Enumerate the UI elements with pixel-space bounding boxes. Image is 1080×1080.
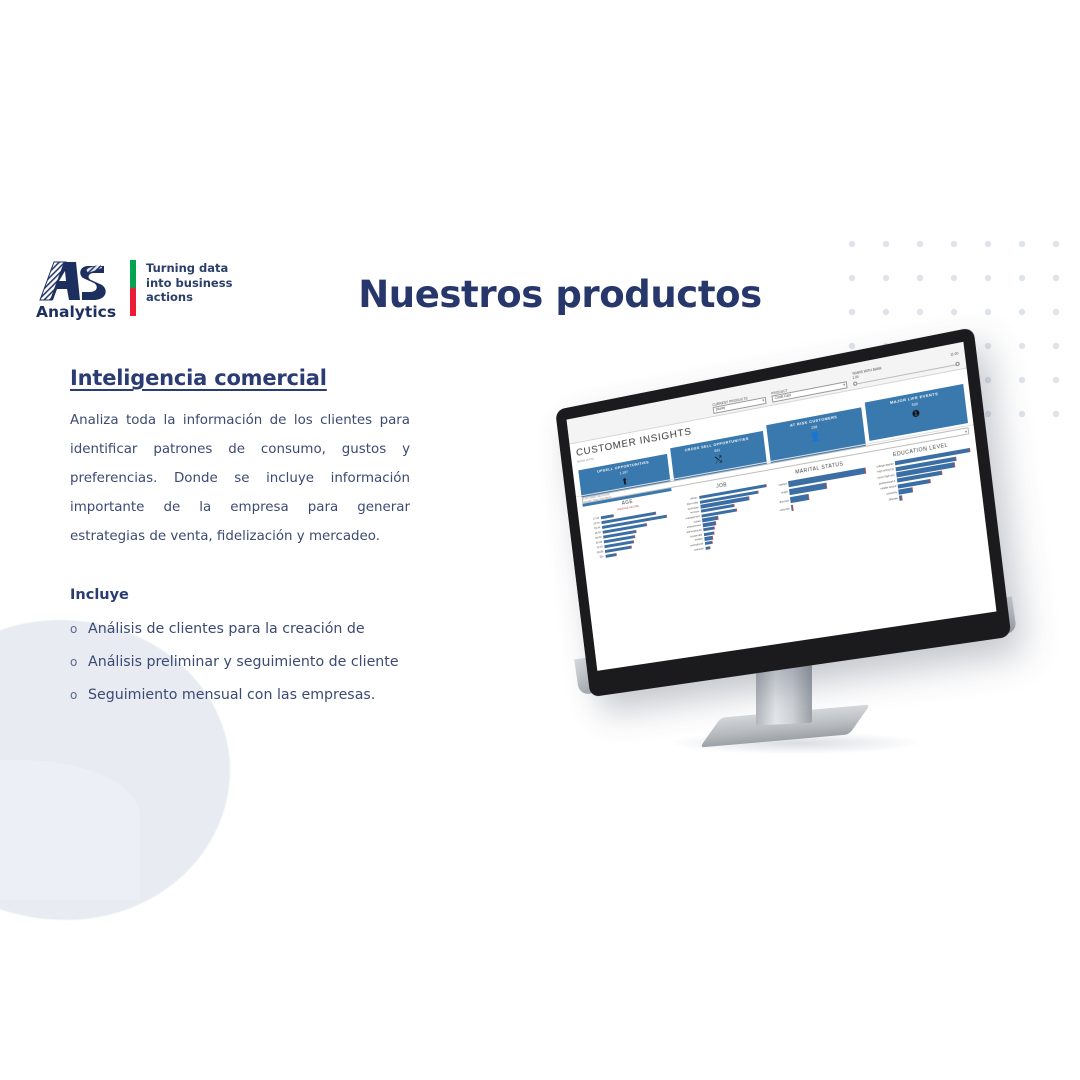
logo-tagline: Turning data into business actions <box>146 261 232 305</box>
list-item-label: Seguimiento mensual con las empresas. <box>88 681 410 710</box>
list-item: o Análisis preliminar y seguimiento de c… <box>70 648 410 677</box>
chart-age: AGE AVERAGE INCOME 17-2425-3435-4445-545… <box>583 492 692 666</box>
as-monogram-icon: Analytics <box>36 256 118 322</box>
includes-heading: Incluye <box>70 587 410 603</box>
filter-value: (None) <box>715 405 725 414</box>
chart-bar-fill <box>899 495 902 500</box>
list-item-label: Análisis preliminar y seguimiento de cli… <box>88 648 410 677</box>
chart-bar-label: married <box>773 482 787 487</box>
logo-mark: Analytics <box>36 256 118 322</box>
tagline-line-2: into business <box>146 276 232 291</box>
slide-canvas: Analytics Turning data into business act… <box>0 0 1080 1080</box>
chart-bar-label: 90+ <box>589 555 604 560</box>
monitor-mockup: CURRENT PRODUCTS (None) ▾ PRODUCT Credit… <box>560 360 1030 810</box>
chart-job: JOB admin.blue-collartechnicianservicesm… <box>676 475 788 653</box>
badge-icon: ❶ <box>911 408 921 421</box>
chart-bar-label: single <box>774 491 788 496</box>
list-item: o Análisis de clientes para la creación … <box>70 615 410 644</box>
chevron-down-icon: ▾ <box>843 381 847 389</box>
section-heading: Inteligencia comercial <box>70 366 410 390</box>
tagline-line-3: actions <box>146 290 232 305</box>
list-item-label: Análisis de clientes para la creación de <box>88 615 410 644</box>
chart-education-level: EDUCATION LEVEL college degreehigh schoo… <box>871 438 991 623</box>
kpi-value: 1,197 <box>619 470 628 475</box>
tagline-line-1: Turning data <box>146 261 232 276</box>
body-paragraph: Analiza toda la información de los clien… <box>70 406 410 551</box>
kpi-value: 298 <box>811 425 817 430</box>
page-title: Nuestros productos <box>300 273 820 316</box>
filter-value: Credit Card <box>774 392 791 402</box>
bullet-marker-icon: o <box>70 648 88 677</box>
slider-handle-min[interactable] <box>853 381 858 386</box>
chart-bar-label: divorced <box>775 499 789 504</box>
person-icon: 👤 <box>809 430 821 443</box>
chart-bar-fill <box>705 546 710 550</box>
kpi-value: 631 <box>714 448 720 453</box>
content-column: Inteligencia comercial Analiza toda la i… <box>70 366 410 714</box>
dashboard: CURRENT PRODUCTS (None) ▾ PRODUCT Credit… <box>566 342 996 671</box>
monitor-body: CURRENT PRODUCTS (None) ▾ PRODUCT Credit… <box>555 327 1011 697</box>
bullet-marker-icon: o <box>70 681 88 710</box>
logo-sub-text: Analytics <box>36 303 116 321</box>
logo-divider-bar <box>130 260 136 316</box>
chevron-down-icon: ▾ <box>762 397 766 404</box>
list-item: o Seguimiento mensual con las empresas. <box>70 681 410 710</box>
kpi-value: 530 <box>911 402 918 407</box>
chart-marital-status: MARITAL STATUS marriedsingledivorcedunkn… <box>772 457 888 638</box>
chart-bar-fill <box>605 553 616 558</box>
shuffle-icon: ⤭ <box>714 454 722 466</box>
chart-bar-label: unknown <box>776 507 790 512</box>
bullet-marker-icon: o <box>70 615 88 644</box>
monitor-screen: CURRENT PRODUCTS (None) ▾ PRODUCT Credit… <box>566 342 996 671</box>
includes-list: o Análisis de clientes para la creación … <box>70 615 410 710</box>
slider-handle-max[interactable] <box>955 362 960 367</box>
chart-bar-fill <box>791 505 793 511</box>
brand-logo: Analytics Turning data into business act… <box>36 256 232 322</box>
